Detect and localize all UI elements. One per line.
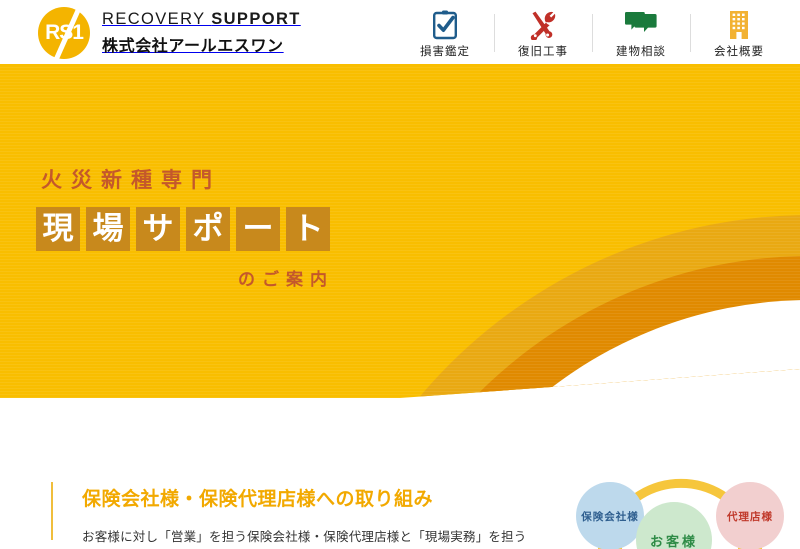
- nav-item-tatemono-sodan[interactable]: 建物相談: [592, 4, 690, 62]
- site-logo[interactable]: RS1 RECOVERY SUPPORT 株式会社アールエスワン: [38, 7, 301, 59]
- logo-english-light: RECOVERY: [102, 10, 211, 28]
- office-building-icon: [726, 8, 752, 42]
- header-bottom-rule: [0, 64, 800, 67]
- hero-title-char: ポ: [186, 207, 230, 251]
- hero-title-char: ー: [236, 207, 280, 251]
- nav-item-songai-kantei[interactable]: 損害鑑定: [396, 4, 494, 62]
- hero-title-char: 現: [36, 207, 80, 251]
- hero-subtitle: のご案内: [36, 265, 334, 290]
- rsi-logo-mark: RS1: [38, 7, 90, 59]
- bubble-agency: 代理店様: [716, 482, 784, 549]
- logo-text-block: RECOVERY SUPPORT 株式会社アールエスワン: [102, 10, 301, 56]
- nav-item-fukkyu-koji[interactable]: 復旧工事: [494, 4, 592, 62]
- logo-english-bold: SUPPORT: [211, 10, 301, 28]
- nav-label: 復旧工事: [518, 43, 568, 59]
- speech-bubbles-icon: [625, 8, 657, 42]
- section-heading: 保険会社様・保険代理店様への取り組み: [82, 484, 433, 511]
- nav-label: 建物相談: [616, 43, 666, 59]
- bubble-insurance-company: 保険会社様: [576, 482, 644, 549]
- section-body-text: お客様に対し「営業」を担う保険会社様・保険代理店様と「現場実務」を担う: [82, 526, 527, 549]
- hero-title-char: 場: [86, 207, 130, 251]
- main-navigation: 損害鑑定 復旧工事: [396, 4, 788, 64]
- section-accent-bar: [51, 482, 53, 540]
- stakeholder-diagram: 保険会社様 代理店様 お客様: [560, 455, 800, 549]
- hero-banner: 火災新種専門 現 場 サ ポ ー ト のご案内: [0, 67, 800, 398]
- page-root: RS1 RECOVERY SUPPORT 株式会社アールエスワン 損害鑑定: [0, 0, 800, 549]
- nav-label: 会社概要: [714, 43, 764, 59]
- hero-copy-block: 火災新種専門 現 場 サ ポ ー ト のご案内: [36, 164, 334, 290]
- logo-japanese: 株式会社アールエスワン: [102, 32, 301, 56]
- clipboard-check-icon: [432, 8, 458, 42]
- hero-eyebrow: 火災新種専門: [41, 164, 334, 194]
- tools-cross-icon: [528, 8, 558, 42]
- hero-title: 現 場 サ ポ ー ト: [36, 207, 334, 251]
- nav-item-kaisha-gaiyo[interactable]: 会社概要: [690, 4, 788, 62]
- site-header: RS1 RECOVERY SUPPORT 株式会社アールエスワン 損害鑑定: [0, 0, 800, 67]
- hero-title-char: サ: [136, 207, 180, 251]
- logo-english: RECOVERY SUPPORT: [102, 10, 301, 29]
- hero-title-char: ト: [286, 207, 330, 251]
- nav-label: 損害鑑定: [420, 43, 470, 59]
